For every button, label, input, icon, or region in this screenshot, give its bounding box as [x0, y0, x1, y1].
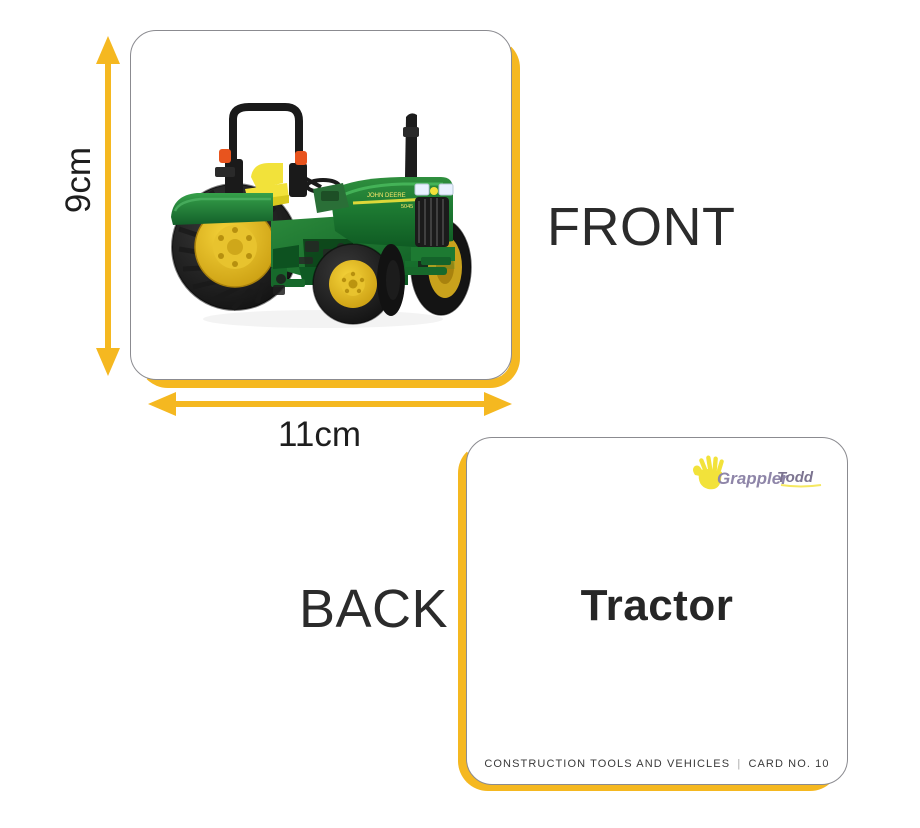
back-card-face: Grappler Todd Tractor CONSTRUCTION TOOLS… — [466, 437, 848, 785]
card-footer: CONSTRUCTION TOOLS AND VEHICLES | CARD N… — [467, 758, 847, 770]
flashcard-preview-page: { "labels": { "front": "FRONT", "back": … — [0, 0, 920, 828]
back-side-label: BACK — [299, 578, 448, 640]
height-dimension-arrow — [96, 34, 120, 378]
brand-name-part-2: Todd — [777, 469, 814, 486]
tractor-photo: JOHN DEERE 5045 D — [153, 71, 493, 343]
front-card-face: JOHN DEERE 5045 D — [130, 30, 512, 380]
back-card[interactable]: Grappler Todd Tractor CONSTRUCTION TOOLS… — [466, 437, 848, 785]
front-card[interactable]: JOHN DEERE 5045 D — [130, 30, 512, 380]
grappler-todd-hand-logo: Grappler Todd — [681, 455, 825, 493]
card-word-title: Tractor — [467, 581, 847, 631]
card-number-label: CARD NO. 10 — [748, 758, 829, 770]
height-dimension-label: 9cm — [59, 147, 99, 213]
footer-separator: | — [734, 758, 744, 770]
svg-text:JOHN DEERE: JOHN DEERE — [367, 193, 406, 199]
card-category-label: CONSTRUCTION TOOLS AND VEHICLES — [484, 758, 730, 770]
width-dimension-label: 11cm — [278, 415, 361, 455]
front-side-label: FRONT — [547, 196, 735, 258]
width-dimension-arrow — [146, 390, 514, 418]
